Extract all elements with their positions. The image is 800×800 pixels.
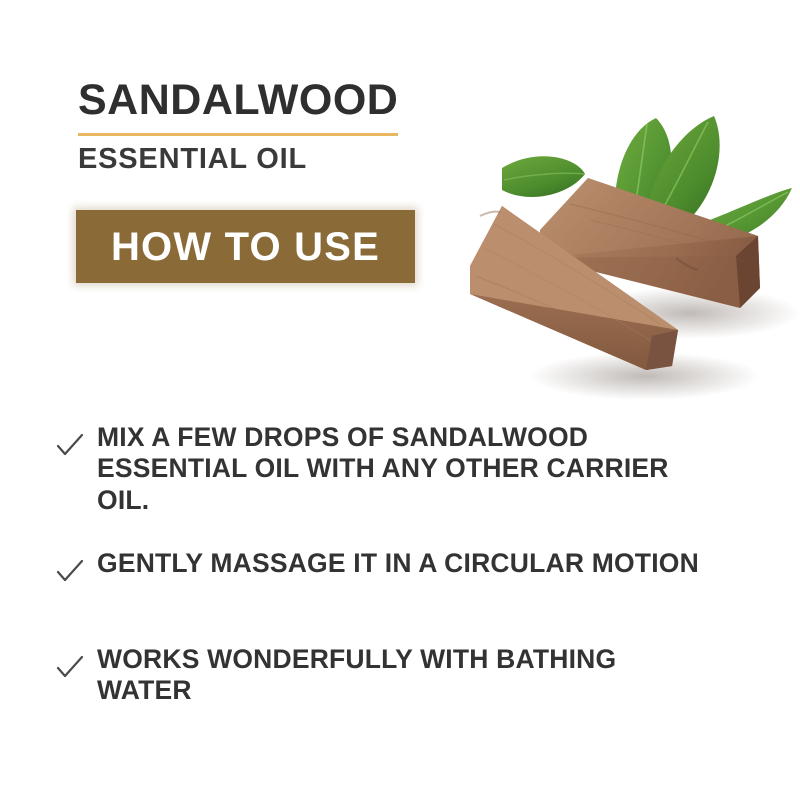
check-icon	[55, 422, 85, 458]
check-icon	[55, 644, 85, 680]
list-item-text: MIX A FEW DROPS OF SANDALWOOD ESSENTIAL …	[97, 422, 717, 516]
how-to-use-banner: HOW TO USE	[76, 210, 415, 283]
sandalwood-illustration	[440, 108, 800, 408]
leaf-left	[502, 156, 585, 197]
poster-canvas: SANDALWOOD ESSENTIAL OIL HOW TO USE	[0, 0, 800, 800]
instructions-list: MIX A FEW DROPS OF SANDALWOOD ESSENTIAL …	[55, 422, 755, 718]
check-icon	[55, 548, 85, 584]
page-title: SANDALWOOD	[78, 78, 418, 123]
list-item-text: WORKS WONDERFULLY WITH BATHING WATER	[97, 644, 717, 707]
header-block: SANDALWOOD ESSENTIAL OIL	[78, 78, 418, 175]
list-item: GENTLY MASSAGE IT IN A CIRCULAR MOTION	[55, 548, 755, 622]
page-subtitle: ESSENTIAL OIL	[78, 144, 418, 174]
list-item: WORKS WONDERFULLY WITH BATHING WATER	[55, 644, 755, 718]
product-photo	[440, 108, 800, 408]
list-item-text: GENTLY MASSAGE IT IN A CIRCULAR MOTION	[97, 548, 699, 579]
how-to-use-banner-label: HOW TO USE	[111, 227, 380, 267]
title-divider	[78, 133, 398, 136]
list-item: MIX A FEW DROPS OF SANDALWOOD ESSENTIAL …	[55, 422, 755, 526]
